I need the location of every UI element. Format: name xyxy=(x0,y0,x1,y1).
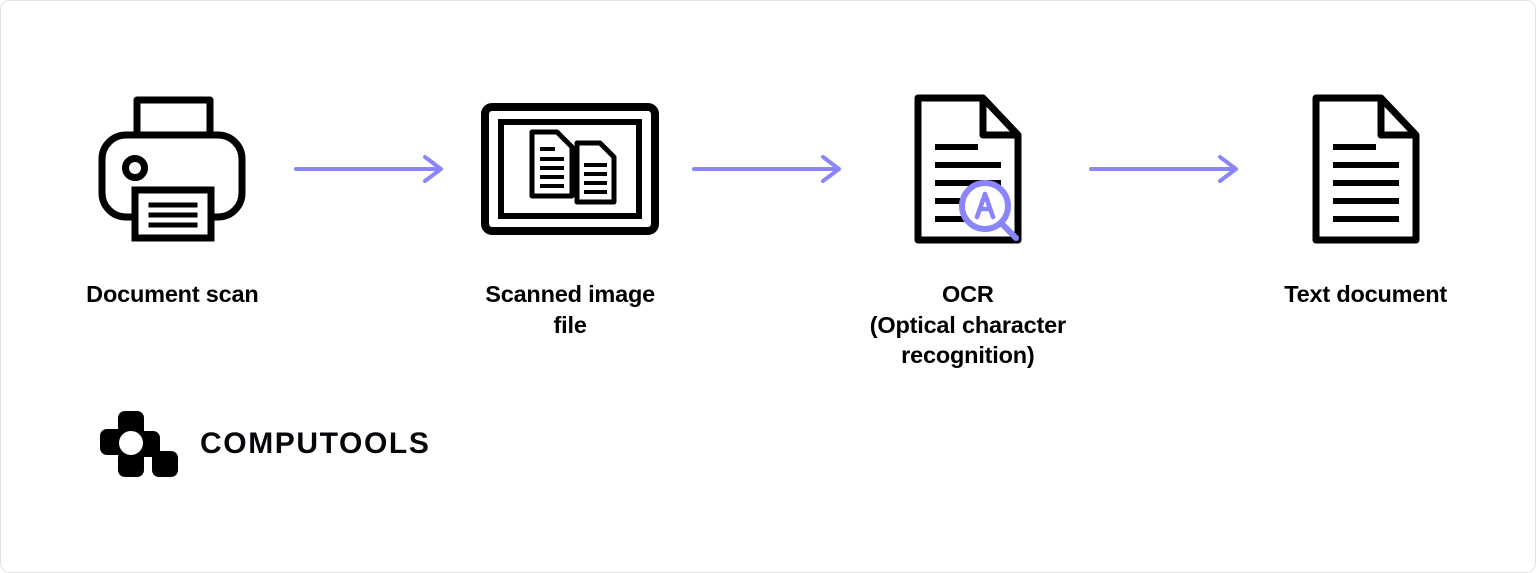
flow-step-ocr: OCR (Optical character recognition) xyxy=(857,89,1080,371)
connector-arrow-1 xyxy=(284,89,459,249)
process-flow: Document scan xyxy=(61,89,1477,371)
computools-logo-mark xyxy=(100,407,178,481)
flow-step-label: OCR (Optical character recognition) xyxy=(870,279,1066,371)
brand-lockup: COMPUTOOLS xyxy=(100,407,430,481)
diagram-canvas: Document scan xyxy=(0,0,1536,573)
brand-name: COMPUTOOLS xyxy=(200,427,430,461)
flow-step-text-document: Text document xyxy=(1254,89,1477,310)
flow-step-label: Text document xyxy=(1284,279,1447,310)
scanned-image-frame-icon xyxy=(481,89,659,249)
flow-step-scanned-image-file: Scanned image file xyxy=(459,89,682,340)
document-magnifier-a-icon xyxy=(913,89,1023,249)
printer-scanner-icon xyxy=(97,89,247,249)
arrow-right-icon xyxy=(1089,154,1244,184)
connector-arrow-2 xyxy=(682,89,857,249)
flow-step-document-scan: Document scan xyxy=(61,89,284,310)
text-document-icon xyxy=(1311,89,1421,249)
connector-arrow-3 xyxy=(1079,89,1254,249)
arrow-right-icon xyxy=(692,154,847,184)
flow-step-label: Scanned image file xyxy=(485,279,655,340)
flow-step-label: Document scan xyxy=(86,279,258,310)
arrow-right-icon xyxy=(294,154,449,184)
